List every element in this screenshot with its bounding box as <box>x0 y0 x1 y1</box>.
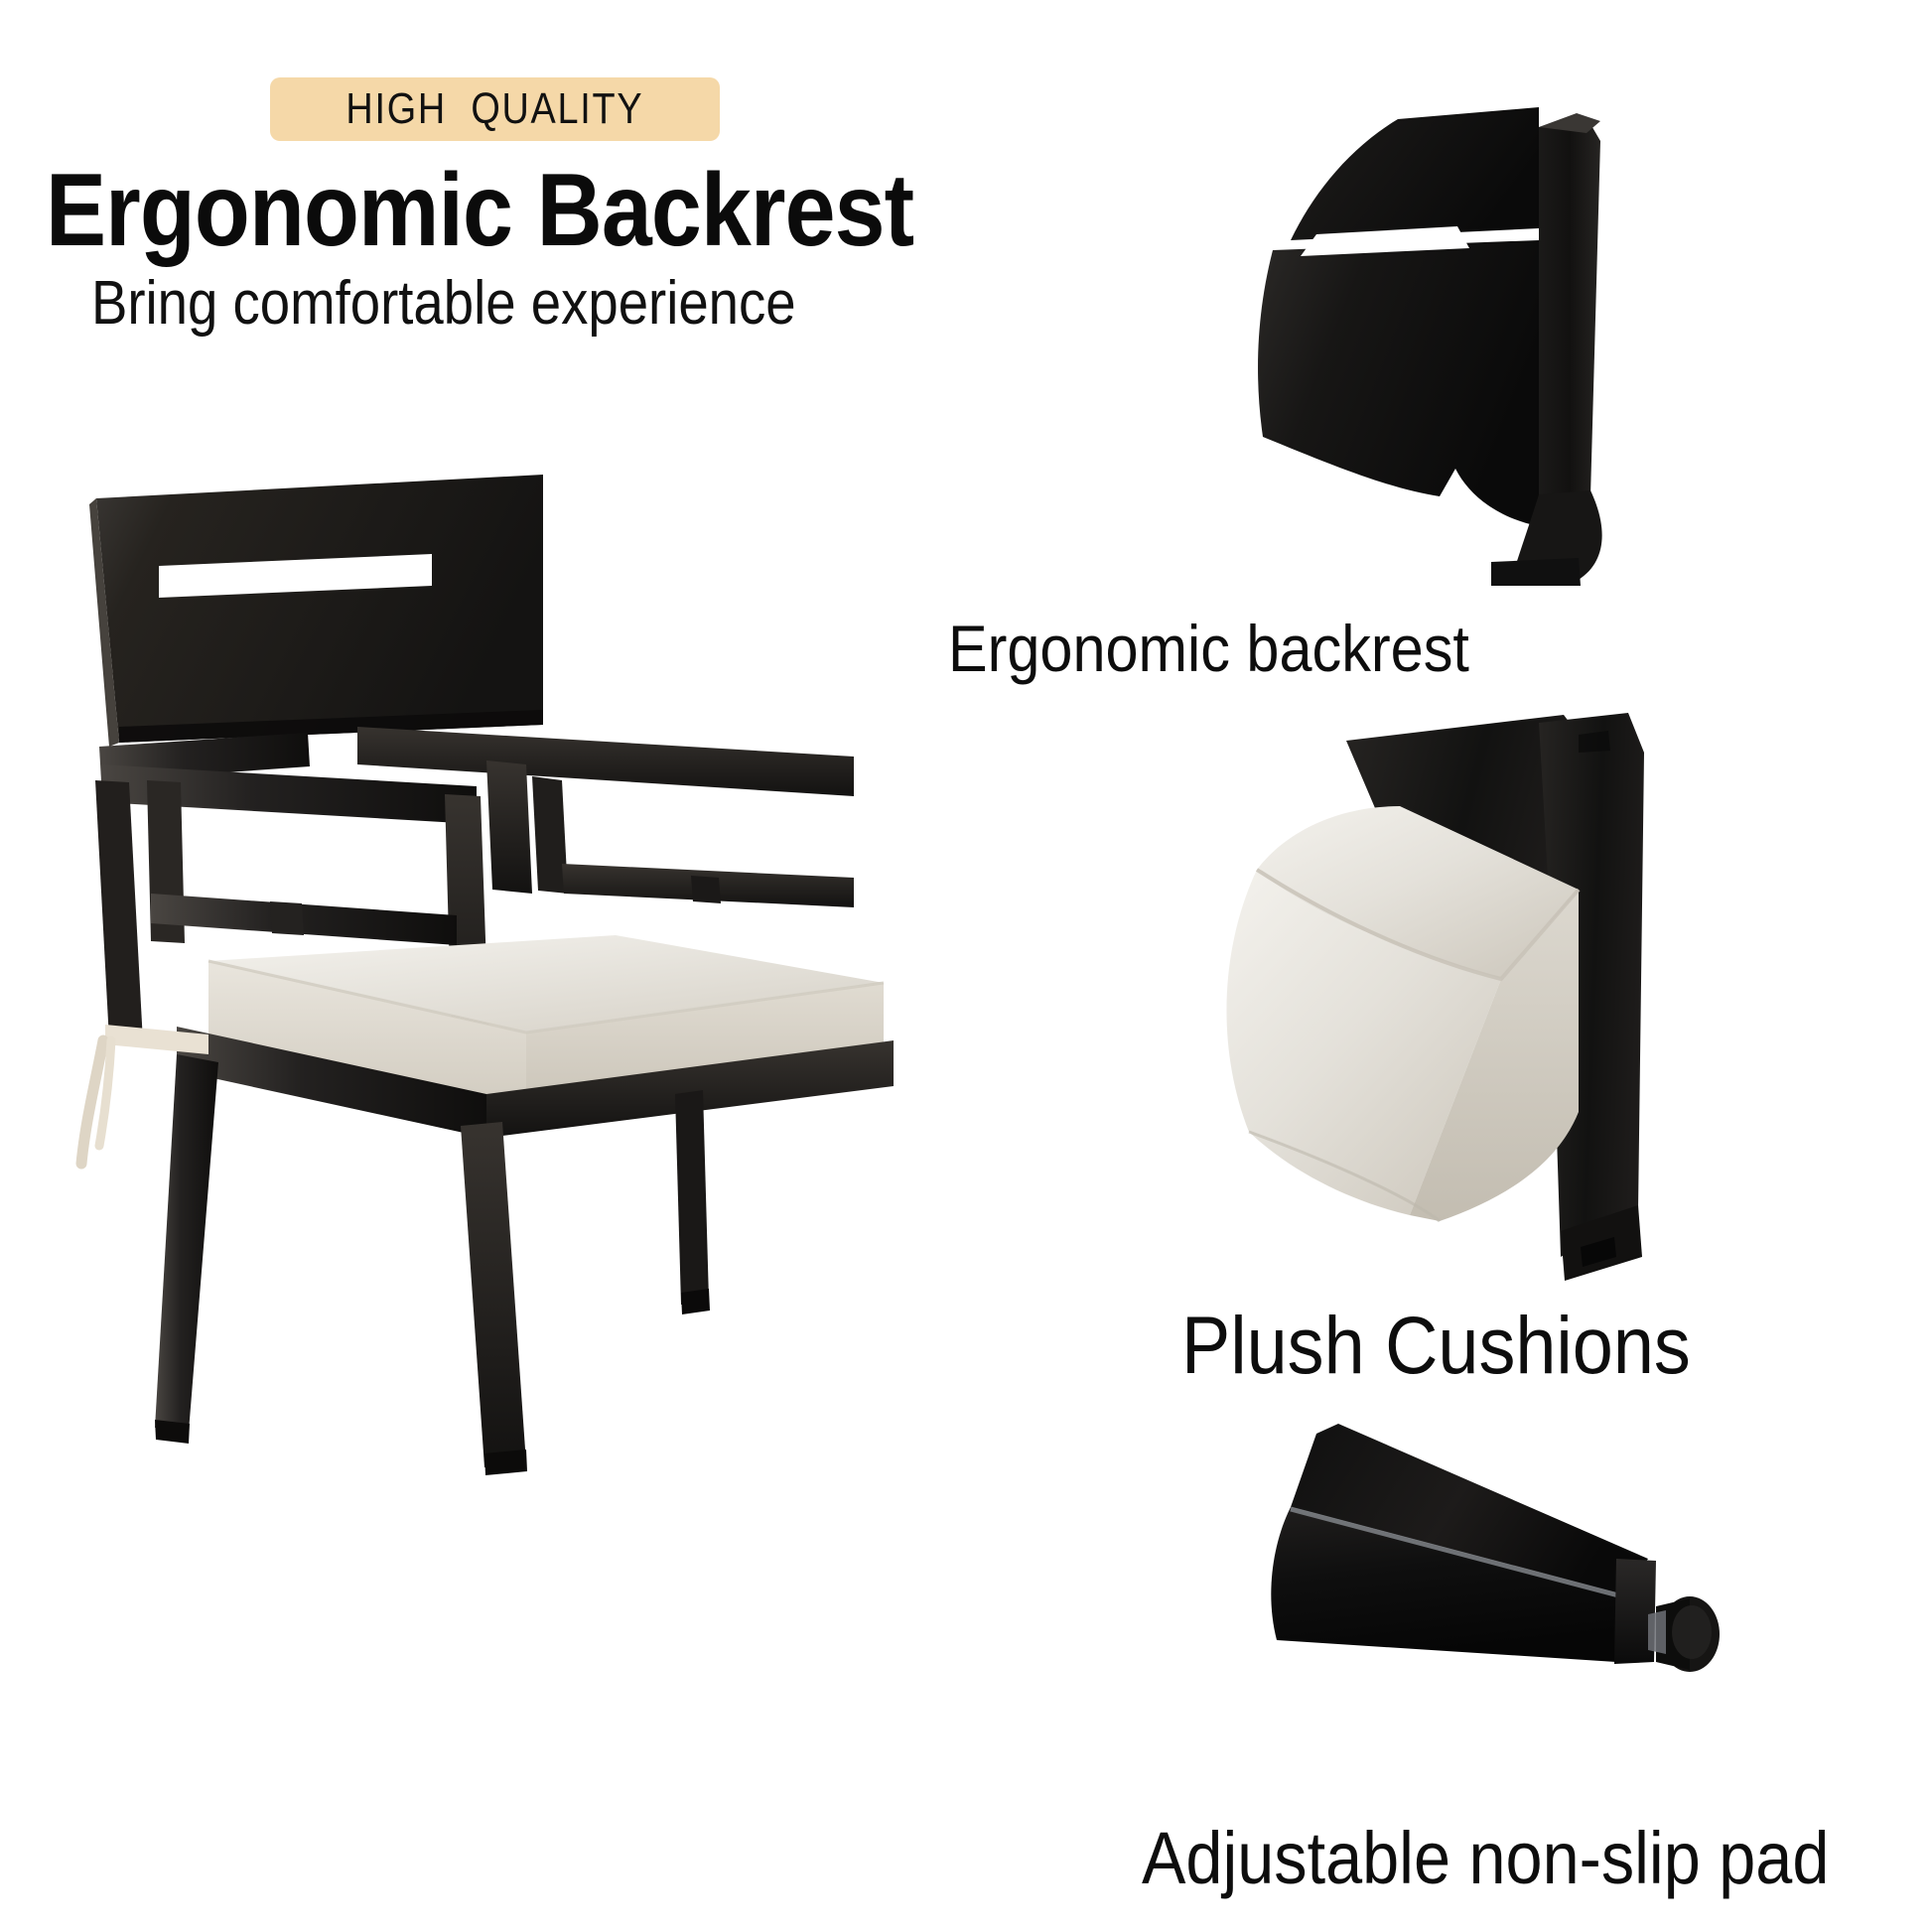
chair-leg-front-left <box>155 1054 218 1432</box>
chair-leg-back-left <box>95 780 143 1042</box>
feature-caption-plush-cushions: Plush Cushions <box>1181 1306 1691 1387</box>
product-main-image <box>60 427 933 1479</box>
feature-caption-nonslip-pad: Adjustable non-slip pad <box>1142 1822 1829 1895</box>
feature-caption-ergonomic-backrest: Ergonomic backrest <box>948 616 1469 681</box>
chair-lattice-right <box>532 776 854 907</box>
chair-leg-back-right <box>675 1090 709 1305</box>
feature-image-plush-cushions <box>1112 695 1866 1311</box>
chair-graphic <box>81 475 894 1475</box>
cushion-closeup-graphic <box>1226 713 1644 1281</box>
chair-center-post <box>486 760 532 894</box>
feature-image-ergonomic-backrest <box>1142 99 1837 586</box>
page-title: Ergonomic Backrest <box>46 159 913 262</box>
infographic-page: HIGH QUALITY Ergonomic Backrest Bring co… <box>0 0 1932 1932</box>
high-quality-badge: HIGH QUALITY <box>270 77 720 141</box>
feature-image-nonslip-pad <box>1221 1410 1757 1807</box>
badge-label: HIGH QUALITY <box>346 84 644 134</box>
nonslip-pad-closeup-graphic <box>1271 1424 1720 1672</box>
page-subtitle: Bring comfortable experience <box>91 273 796 335</box>
chair-leg-front-right <box>461 1122 526 1467</box>
backrest-closeup-graphic <box>1258 107 1602 586</box>
chair-backrest-panel <box>89 475 543 747</box>
